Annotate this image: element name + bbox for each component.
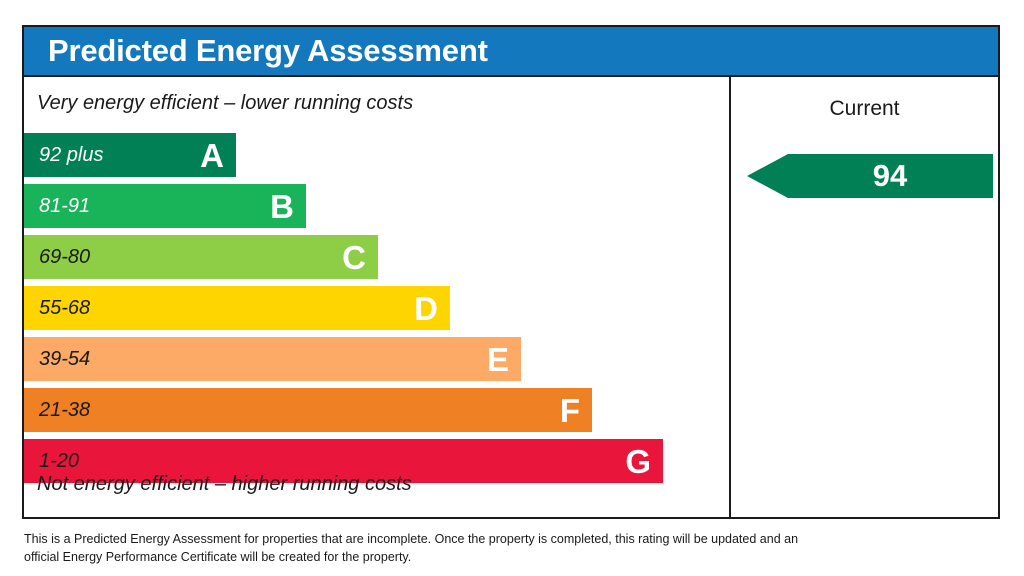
certificate-box: Predicted Energy Assessment Very energy … — [22, 25, 1000, 519]
energy-rating-chart-panel: Very energy efficient – lower running co… — [24, 77, 729, 519]
band-f-range: 21-38 — [24, 399, 90, 422]
band-b: 81-91 B — [24, 184, 306, 228]
band-row: 21-38 F — [24, 388, 729, 439]
title-bar: Predicted Energy Assessment — [24, 27, 998, 77]
page-title: Predicted Energy Assessment — [48, 33, 488, 69]
caption-not-efficient: Not energy efficient – higher running co… — [37, 473, 412, 496]
band-row: 55-68 D — [24, 286, 729, 337]
band-row: 92 plus A — [24, 133, 729, 184]
current-column-header: Current — [731, 97, 998, 121]
band-a: 92 plus A — [24, 133, 236, 177]
band-e-range: 39-54 — [24, 348, 90, 371]
band-f-letter: F — [560, 394, 592, 427]
band-g-range: 1-20 — [24, 450, 79, 473]
band-c-letter: C — [342, 241, 378, 274]
current-rating-arrow-icon — [747, 154, 993, 198]
band-a-letter: A — [200, 139, 236, 172]
band-b-letter: B — [270, 190, 306, 223]
band-row: 69-80 C — [24, 235, 729, 286]
band-g-letter: G — [625, 445, 663, 478]
current-rating-panel: Current 94 — [729, 77, 998, 519]
band-row: 39-54 E — [24, 337, 729, 388]
epc-chart-root: Predicted Energy Assessment Very energy … — [0, 0, 1024, 576]
band-row: 81-91 B — [24, 184, 729, 235]
band-d-letter: D — [414, 292, 450, 325]
band-d-range: 55-68 — [24, 297, 90, 320]
band-list: 92 plus A 81-91 B 69-80 C — [24, 133, 729, 490]
band-c: 69-80 C — [24, 235, 378, 279]
caption-very-efficient: Very energy efficient – lower running co… — [37, 92, 413, 115]
band-c-range: 69-80 — [24, 246, 90, 269]
band-f: 21-38 F — [24, 388, 592, 432]
footer-note: This is a Predicted Energy Assessment fo… — [24, 530, 824, 566]
band-e: 39-54 E — [24, 337, 521, 381]
band-b-range: 81-91 — [24, 195, 90, 218]
band-a-range: 92 plus — [24, 144, 104, 167]
band-e-letter: E — [487, 343, 521, 376]
band-d: 55-68 D — [24, 286, 450, 330]
